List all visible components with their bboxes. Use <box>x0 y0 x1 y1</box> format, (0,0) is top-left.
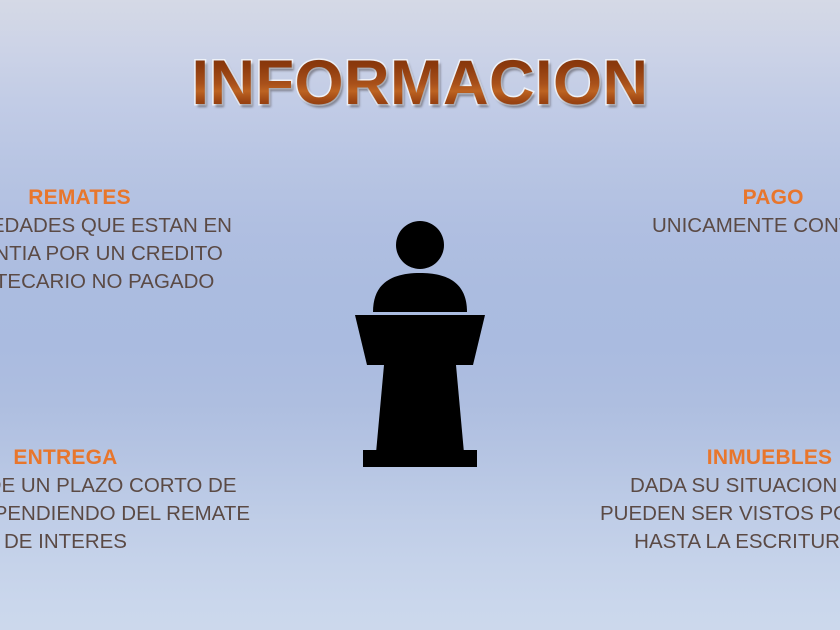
block-heading-pago: PAGO <box>652 183 840 212</box>
block-line: UNICAMENTE CONTADO <box>652 212 840 240</box>
page-title: INFORMACION <box>0 52 840 115</box>
text-block-remates: REMATES PROPIEDADES QUE ESTAN EN GARANTI… <box>0 183 232 296</box>
presentation-slide: INFORMACION INFORMACION REMATES PROPIEDA… <box>0 0 840 630</box>
block-line: HIPOTECARIO NO PAGADO <box>0 268 232 296</box>
text-block-entrega: ENTREGA DENTRO DE UN PLAZO CORTO DE TIEM… <box>0 443 250 556</box>
block-line: GARANTIA POR UN CREDITO <box>0 240 232 268</box>
block-line: HASTA LA ESCRITURACION <box>600 528 840 556</box>
text-block-inmuebles: INMUEBLES DADA SU SITUACION LEGAL PUEDEN… <box>600 443 840 556</box>
block-line: DADA SU SITUACION LEGAL <box>600 472 840 500</box>
block-line: TIEMPO DEPENDIENDO DEL REMATE <box>0 500 250 528</box>
block-line: DE INTERES <box>0 528 250 556</box>
block-line: PUEDEN SER VISTOS POR FUERA <box>600 500 840 528</box>
block-line: PROPIEDADES QUE ESTAN EN <box>0 212 232 240</box>
block-heading-inmuebles: INMUEBLES <box>600 443 840 472</box>
text-block-pago: PAGO UNICAMENTE CONTADO <box>652 183 840 240</box>
block-heading-remates: REMATES <box>0 183 232 212</box>
block-heading-entrega: ENTREGA <box>0 443 250 472</box>
block-line: DENTRO DE UN PLAZO CORTO DE <box>0 472 250 500</box>
podium-speaker-icon <box>340 215 505 475</box>
